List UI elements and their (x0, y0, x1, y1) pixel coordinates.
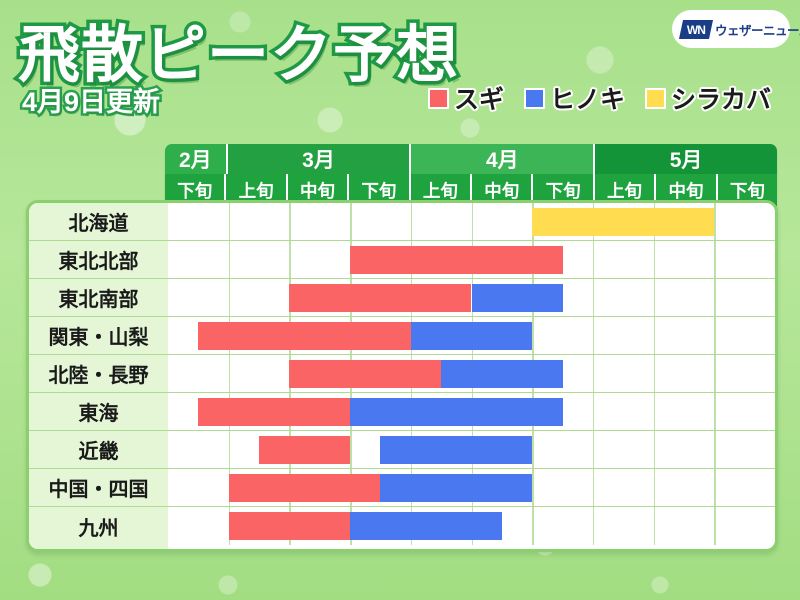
grid-line (229, 241, 231, 278)
grid-line (532, 507, 534, 545)
region-label-column: 北海道東北北部東北南部関東・山梨北陸・長野東海近畿中国・四国九州 (29, 203, 168, 549)
pollen-bar (472, 284, 563, 312)
legend-label-sugi: スギ (454, 80, 504, 116)
month-header-cell: 5月 (595, 144, 777, 174)
grid-line (593, 469, 595, 506)
legend-swatch-hinoki (524, 88, 545, 109)
update-date-label: 4月9日更新 (22, 80, 160, 119)
legend-item-sugi: スギ (428, 80, 504, 116)
grid-line (593, 279, 595, 316)
legend: スギヒノキシラカバ (428, 82, 771, 114)
legend-label-hinoki: ヒノキ (550, 80, 625, 116)
pollen-bar (229, 474, 381, 502)
timeline-row (168, 241, 775, 279)
timeline-grid-area (168, 203, 775, 549)
weathernews-logo-text: ウェザーニュース (715, 20, 800, 39)
region-label-7: 中国・四国 (29, 469, 168, 507)
pollen-bar (259, 436, 350, 464)
grid-line (411, 203, 413, 240)
region-label-4: 北陸・長野 (29, 355, 168, 393)
timeline-row (168, 393, 775, 431)
timeline-row (168, 507, 775, 545)
grid-line (714, 317, 716, 354)
region-label-5: 東海 (29, 393, 168, 431)
grid-line (654, 393, 656, 430)
timeline-row (168, 203, 775, 241)
grid-line (714, 469, 716, 506)
region-label-3: 関東・山梨 (29, 317, 168, 355)
month-header-cell: 3月 (228, 144, 412, 174)
grid-line (229, 431, 231, 468)
region-label-8: 九州 (29, 507, 168, 545)
grid-line (532, 431, 534, 468)
pollen-bar (441, 360, 562, 388)
grid-line (654, 507, 656, 545)
weathernews-logo: WN ウェザーニュース (672, 10, 790, 48)
legend-swatch-shirakaba (645, 88, 666, 109)
timeline-row (168, 469, 775, 507)
pollen-bar (198, 398, 350, 426)
month-header-row: 2月3月4月5月 (165, 144, 777, 174)
grid-line (714, 355, 716, 392)
pollen-bar (350, 246, 562, 274)
grid-line (593, 431, 595, 468)
grid-line (654, 317, 656, 354)
grid-line (289, 241, 291, 278)
grid-line (532, 317, 534, 354)
region-label-0: 北海道 (29, 203, 168, 241)
grid-line (593, 317, 595, 354)
grid-line (350, 431, 352, 468)
timeline-row (168, 355, 775, 393)
timeline-row (168, 317, 775, 355)
grid-line (593, 241, 595, 278)
pollen-bar (411, 322, 532, 350)
pollen-bar (289, 360, 441, 388)
grid-line (350, 203, 352, 240)
grid-line (593, 355, 595, 392)
grid-line (593, 507, 595, 545)
legend-label-shirakaba: シラカバ (671, 80, 771, 116)
grid-line (654, 469, 656, 506)
grid-line (714, 203, 716, 240)
grid-line (289, 203, 291, 240)
wn-mark-text: WN (687, 22, 705, 36)
grid-line (714, 507, 716, 545)
grid-line (229, 203, 231, 240)
pollen-bar (532, 208, 714, 236)
grid-line (714, 431, 716, 468)
wn-mark-icon: WN (679, 20, 713, 39)
pollen-bar (198, 322, 410, 350)
pollen-bar (350, 512, 502, 540)
pollen-bar (350, 398, 562, 426)
legend-item-shirakaba: シラカバ (645, 80, 771, 116)
grid-line (532, 469, 534, 506)
pollen-bar (289, 284, 471, 312)
forecast-table-panel: 北海道東北北部東北南部関東・山梨北陸・長野東海近畿中国・四国九州 (26, 200, 778, 552)
month-header-cell: 2月 (165, 144, 228, 174)
legend-item-hinoki: ヒノキ (524, 80, 625, 116)
header-banner: 飛散ピーク予想 4月9日更新 WN ウェザーニュース スギヒノキシラカバ (0, 0, 800, 140)
pollen-bar (229, 512, 350, 540)
region-label-1: 東北北部 (29, 241, 168, 279)
grid-line (229, 279, 231, 316)
region-label-6: 近畿 (29, 431, 168, 469)
grid-line (654, 431, 656, 468)
pollen-bar (380, 474, 532, 502)
legend-swatch-sugi (428, 88, 449, 109)
grid-line (714, 241, 716, 278)
pollen-peak-forecast-infographic: 飛散ピーク予想 4月9日更新 WN ウェザーニュース スギヒノキシラカバ 2月3… (0, 0, 800, 600)
grid-line (654, 241, 656, 278)
region-label-2: 東北南部 (29, 279, 168, 317)
timeline-row (168, 431, 775, 469)
timeline-row (168, 279, 775, 317)
grid-line (714, 279, 716, 316)
grid-line (229, 355, 231, 392)
grid-line (654, 355, 656, 392)
grid-line (472, 203, 474, 240)
grid-line (593, 393, 595, 430)
month-header-cell: 4月 (411, 144, 595, 174)
grid-line (714, 393, 716, 430)
grid-line (654, 279, 656, 316)
pollen-bar (380, 436, 532, 464)
